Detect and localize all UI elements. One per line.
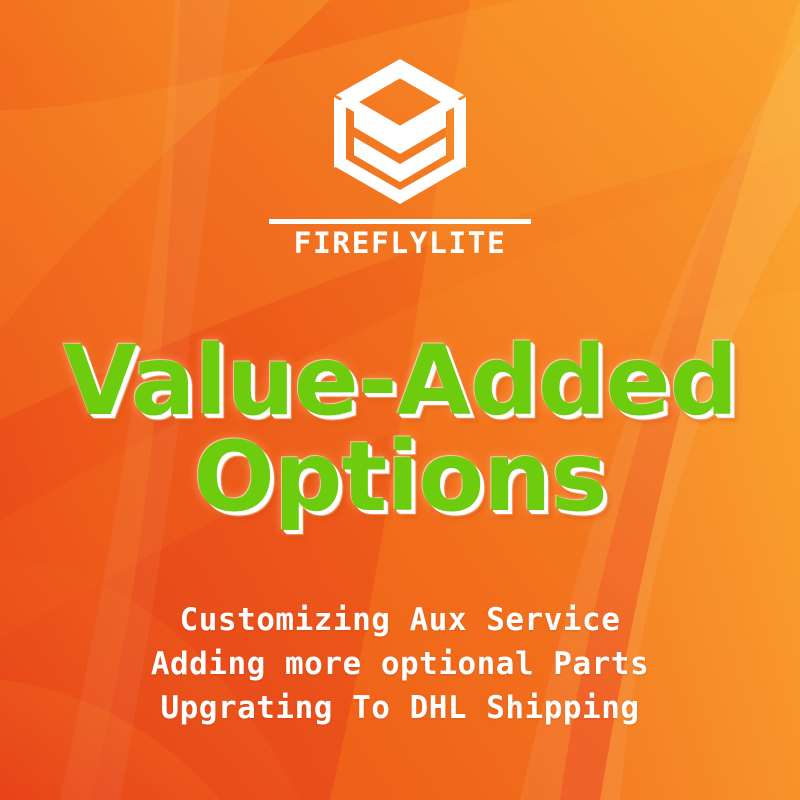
service-list: Customizing Aux Service Adding more opti… bbox=[0, 598, 800, 730]
wordmark-rule bbox=[269, 219, 531, 224]
promotional-poster: FIREFLYLITE Value-Added Options Customiz… bbox=[0, 0, 800, 800]
headline: Value-Added Options bbox=[0, 336, 800, 522]
service-line-2: Adding more optional Parts bbox=[0, 642, 800, 686]
headline-line-2: Options bbox=[0, 432, 800, 522]
hexagon-cube-chevrons-icon bbox=[324, 55, 476, 205]
service-line-1: Customizing Aux Service bbox=[0, 598, 800, 642]
brand-logo-block: FIREFLYLITE bbox=[0, 55, 800, 259]
headline-line-1: Value-Added bbox=[0, 336, 800, 426]
wordmark: FIREFLYLITE bbox=[269, 219, 531, 259]
wordmark-text: FIREFLYLITE bbox=[266, 228, 533, 259]
service-line-3: Upgrating To DHL Shipping bbox=[0, 686, 800, 730]
